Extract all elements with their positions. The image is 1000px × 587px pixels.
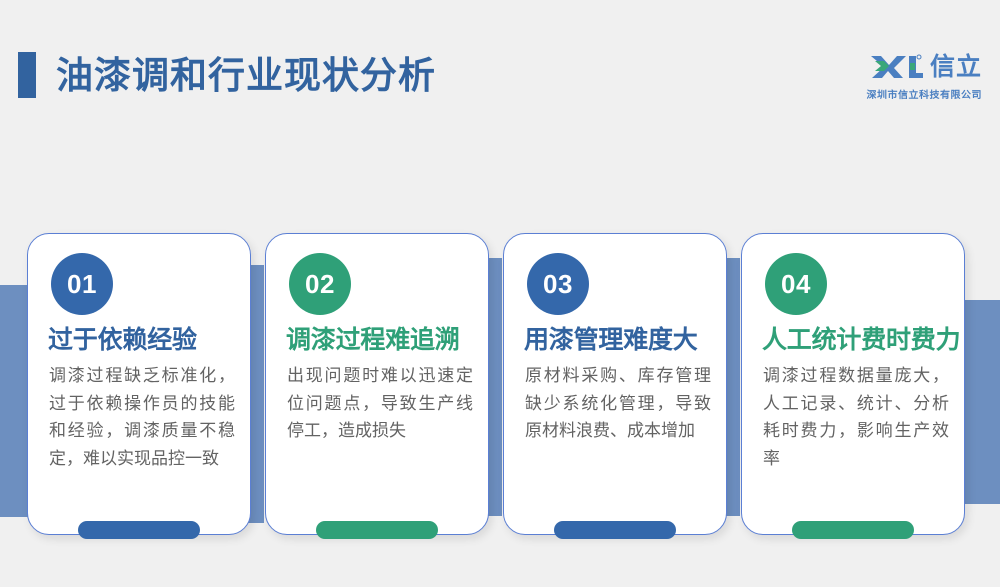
card-number-badge: 04 <box>765 253 827 315</box>
card-body-text: 调漆过程数据量庞大，人工记录、统计、分析耗时费力，影响生产效率 <box>763 362 949 472</box>
card-bottom-pill <box>554 521 676 539</box>
page-title-group: 油漆调和行业现状分析 <box>18 52 436 98</box>
card-bottom-pill <box>78 521 200 539</box>
card-body-text: 出现问题时难以迅速定位问题点，导致生产线停工，造成损失 <box>287 362 473 445</box>
issue-card-01[interactable]: 01 过于依赖经验 调漆过程缺乏标准化，过于依赖操作员的技能和经验，调漆质量不稳… <box>27 233 251 535</box>
logo-company-name: 深圳市信立科技有限公司 <box>867 86 983 100</box>
card-bottom-pill <box>316 521 438 539</box>
card-body-text: 原材料采购、库存管理缺少系统化管理，导致原材料浪费、成本增加 <box>525 362 711 445</box>
card-body-text: 调漆过程缺乏标准化，过于依赖操作员的技能和经验，调漆质量不稳定，难以实现品控一致 <box>49 362 235 472</box>
card-number-badge: 03 <box>527 253 589 315</box>
page-header: 油漆调和行业现状分析 信立 深圳市信立科技有限公司 <box>0 0 1000 160</box>
logo-name: 信立 <box>930 54 982 80</box>
title-accent-bar <box>18 52 36 98</box>
card-number-badge: 01 <box>51 253 113 315</box>
xl-mark-icon <box>869 54 923 80</box>
issue-card-02[interactable]: 02 调漆过程难追溯 出现问题时难以迅速定位问题点，导致生产线停工，造成损失 <box>265 233 489 535</box>
page-title: 油漆调和行业现状分析 <box>56 57 436 94</box>
card-title: 人工统计费时费力 <box>762 326 952 355</box>
logo-main-row: 信立 <box>867 52 983 82</box>
company-logo: 信立 深圳市信立科技有限公司 <box>867 52 983 101</box>
cards-row: 01 过于依赖经验 调漆过程缺乏标准化，过于依赖操作员的技能和经验，调漆质量不稳… <box>0 233 1000 543</box>
card-title: 用漆管理难度大 <box>524 326 714 355</box>
issue-card-03[interactable]: 03 用漆管理难度大 原材料采购、库存管理缺少系统化管理，导致原材料浪费、成本增… <box>503 233 727 535</box>
card-title: 调漆过程难追溯 <box>286 326 476 355</box>
card-title: 过于依赖经验 <box>48 326 238 355</box>
issue-card-04[interactable]: 04 人工统计费时费力 调漆过程数据量庞大，人工记录、统计、分析耗时费力，影响生… <box>741 233 965 535</box>
card-number-badge: 02 <box>289 253 351 315</box>
card-bottom-pill <box>792 521 914 539</box>
